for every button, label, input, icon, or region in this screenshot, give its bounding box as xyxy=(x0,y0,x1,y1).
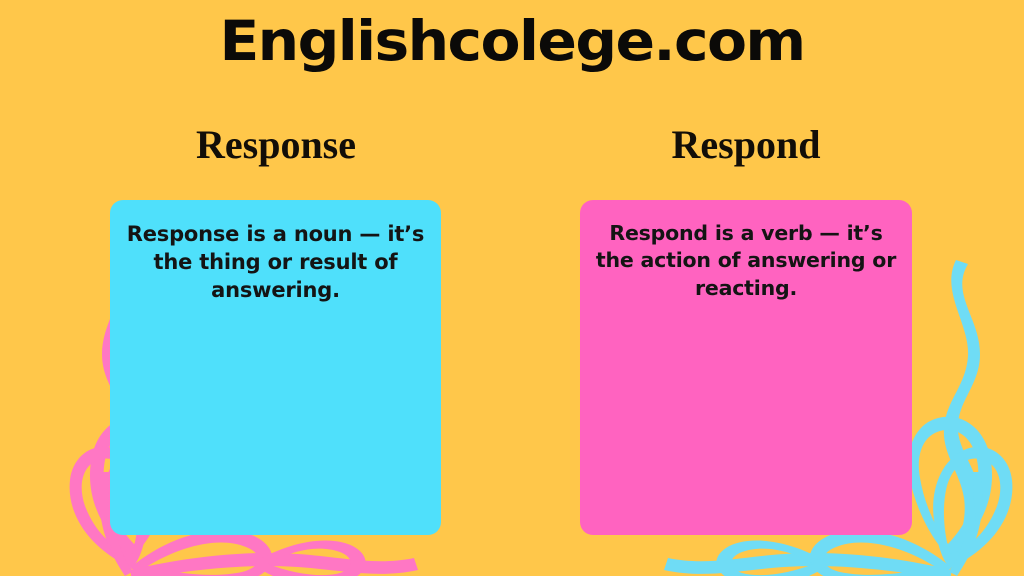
definition-text-response: Response is a noun — it’s the thing or r… xyxy=(124,220,427,304)
definition-text-respond: Respond is a verb — it’s the action of a… xyxy=(594,220,898,302)
definition-card-respond: Respond is a verb — it’s the action of a… xyxy=(580,200,912,535)
slide-canvas: Englishcolege.com Response Respond xyxy=(0,0,1024,576)
page-title: Englishcolege.com xyxy=(0,12,1024,71)
definition-card-response: Response is a noun — it’s the thing or r… xyxy=(110,200,441,535)
column-heading-respond: Respond xyxy=(580,123,912,167)
column-heading-response: Response xyxy=(110,123,442,167)
